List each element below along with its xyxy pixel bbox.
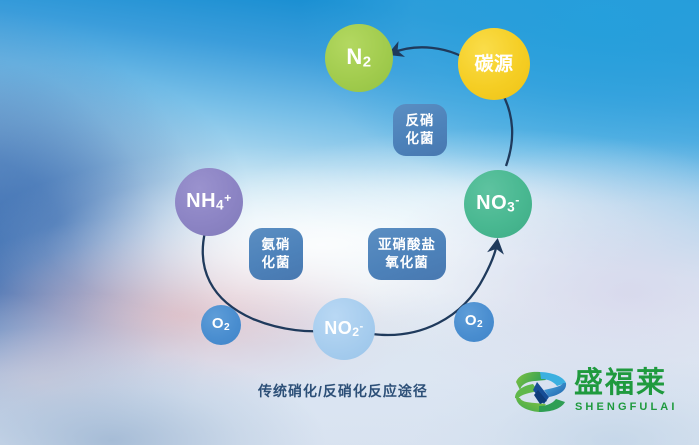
node-carbon-source-label: 碳源 [474,55,513,74]
label-nitrite-oxidizing-bacteria-line2: 氧化菌 [385,254,429,272]
node-o2-right[interactable]: O2 [454,302,494,342]
node-n2-label: N2 [346,46,371,71]
node-nh4[interactable]: NH4+ [175,168,243,236]
label-nitrite-oxidizing-bacteria[interactable]: 亚硝酸盐 氧化菌 [368,228,446,280]
node-o2-right-label: O2 [465,313,483,330]
node-carbon-source[interactable]: 碳源 [458,28,530,100]
node-nh4-label: NH4+ [186,191,232,212]
label-denitrifying-bacteria-line2: 化菌 [406,130,435,148]
node-no2[interactable]: NO2- [313,298,375,360]
node-o2-left[interactable]: O2 [201,305,241,345]
logo-name-en: SHENGFULAI [575,402,678,413]
logo-spiral-icon [513,368,569,420]
label-ammonia-oxidizing-bacteria-line2: 化菌 [262,254,291,272]
diagram-canvas: N2 碳源 NH4+ NO3- NO2- O2 O2 反硝 化菌 氨硝 化菌 亚… [0,0,699,445]
label-denitrifying-bacteria[interactable]: 反硝 化菌 [393,104,447,156]
diagram-caption: 传统硝化/反硝化反应途径 [258,381,428,401]
label-ammonia-oxidizing-bacteria-line1: 氨硝 [262,236,291,254]
node-no2-label: NO2- [324,319,364,338]
label-ammonia-oxidizing-bacteria[interactable]: 氨硝 化菌 [249,228,303,280]
node-no3-label: NO3- [476,193,520,214]
label-denitrifying-bacteria-line1: 反硝 [406,112,435,130]
label-nitrite-oxidizing-bacteria-line1: 亚硝酸盐 [378,236,436,254]
node-n2[interactable]: N2 [325,24,393,92]
logo-name-cn: 盛福莱 [574,369,667,398]
node-o2-left-label: O2 [212,316,230,333]
node-no3[interactable]: NO3- [464,170,532,238]
company-logo: 盛福莱 SHENGFULAI [513,366,688,424]
